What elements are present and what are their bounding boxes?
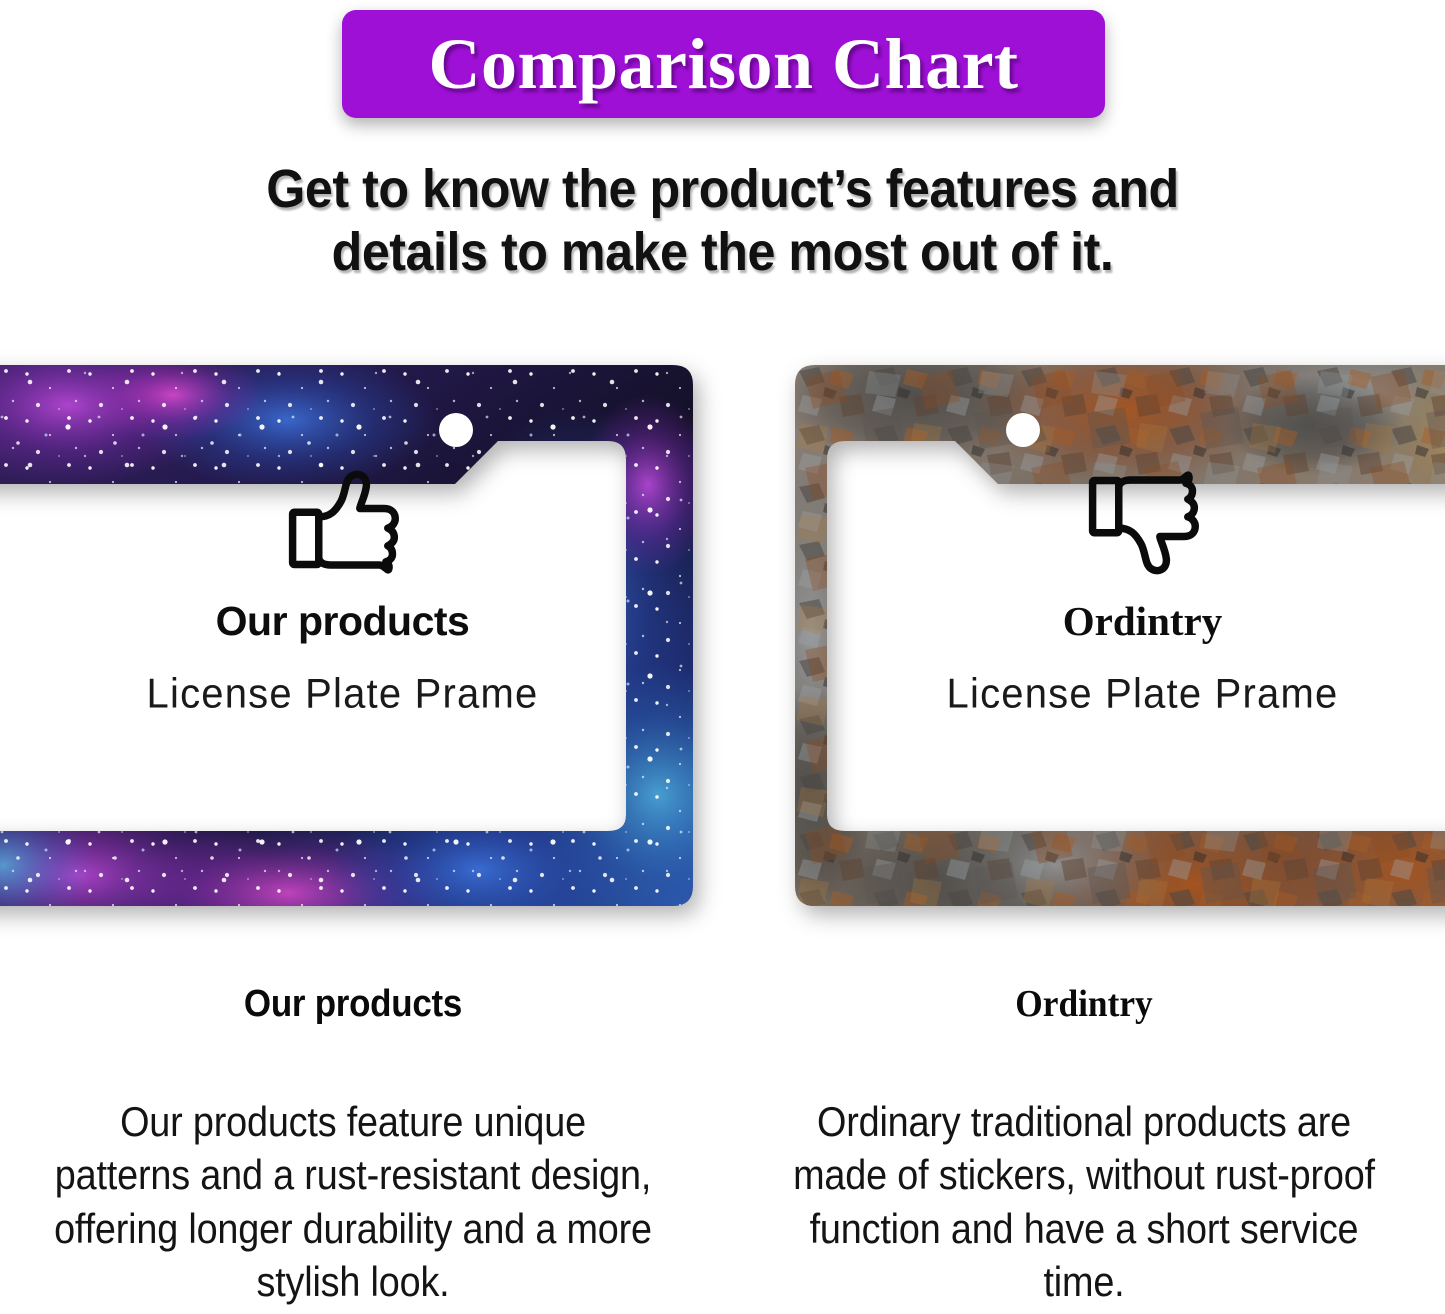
comparison-column-ordintry: Ordintry Ordinary traditional products a… <box>723 985 1445 1308</box>
comparison-body-our-products: Our products feature unique patterns and… <box>28 1095 678 1308</box>
subtitle-line-1: Get to know the product’s features and <box>51 158 1395 221</box>
mounting-hole <box>439 413 473 447</box>
page-title: Comparison Chart <box>428 28 1018 100</box>
comparison-body-ordintry: Ordinary traditional products are made o… <box>759 1095 1409 1308</box>
comparison-heading-ordintry: Ordintry <box>748 985 1419 1023</box>
product-image-our-products <box>0 365 693 906</box>
title-banner: Comparison Chart <box>342 10 1105 118</box>
mounting-hole <box>1006 413 1040 447</box>
comparison-text-row: Our products Our products feature unique… <box>0 985 1445 1314</box>
rusted-license-plate-frame <box>795 365 1445 906</box>
subtitle-line-2: details to make the most out of it. <box>51 221 1395 284</box>
comparison-heading-our-products: Our products <box>21 985 685 1023</box>
comparison-column-our-products: Our products Our products feature unique… <box>0 985 714 1308</box>
galaxy-license-plate-frame <box>0 365 693 906</box>
subtitle: Get to know the product’s features and d… <box>51 158 1395 284</box>
product-image-ordintry <box>795 365 1445 906</box>
product-frames-row: Our products License Plate Prame Ordintr… <box>0 365 1445 910</box>
title-banner-background: Comparison Chart <box>342 10 1105 118</box>
